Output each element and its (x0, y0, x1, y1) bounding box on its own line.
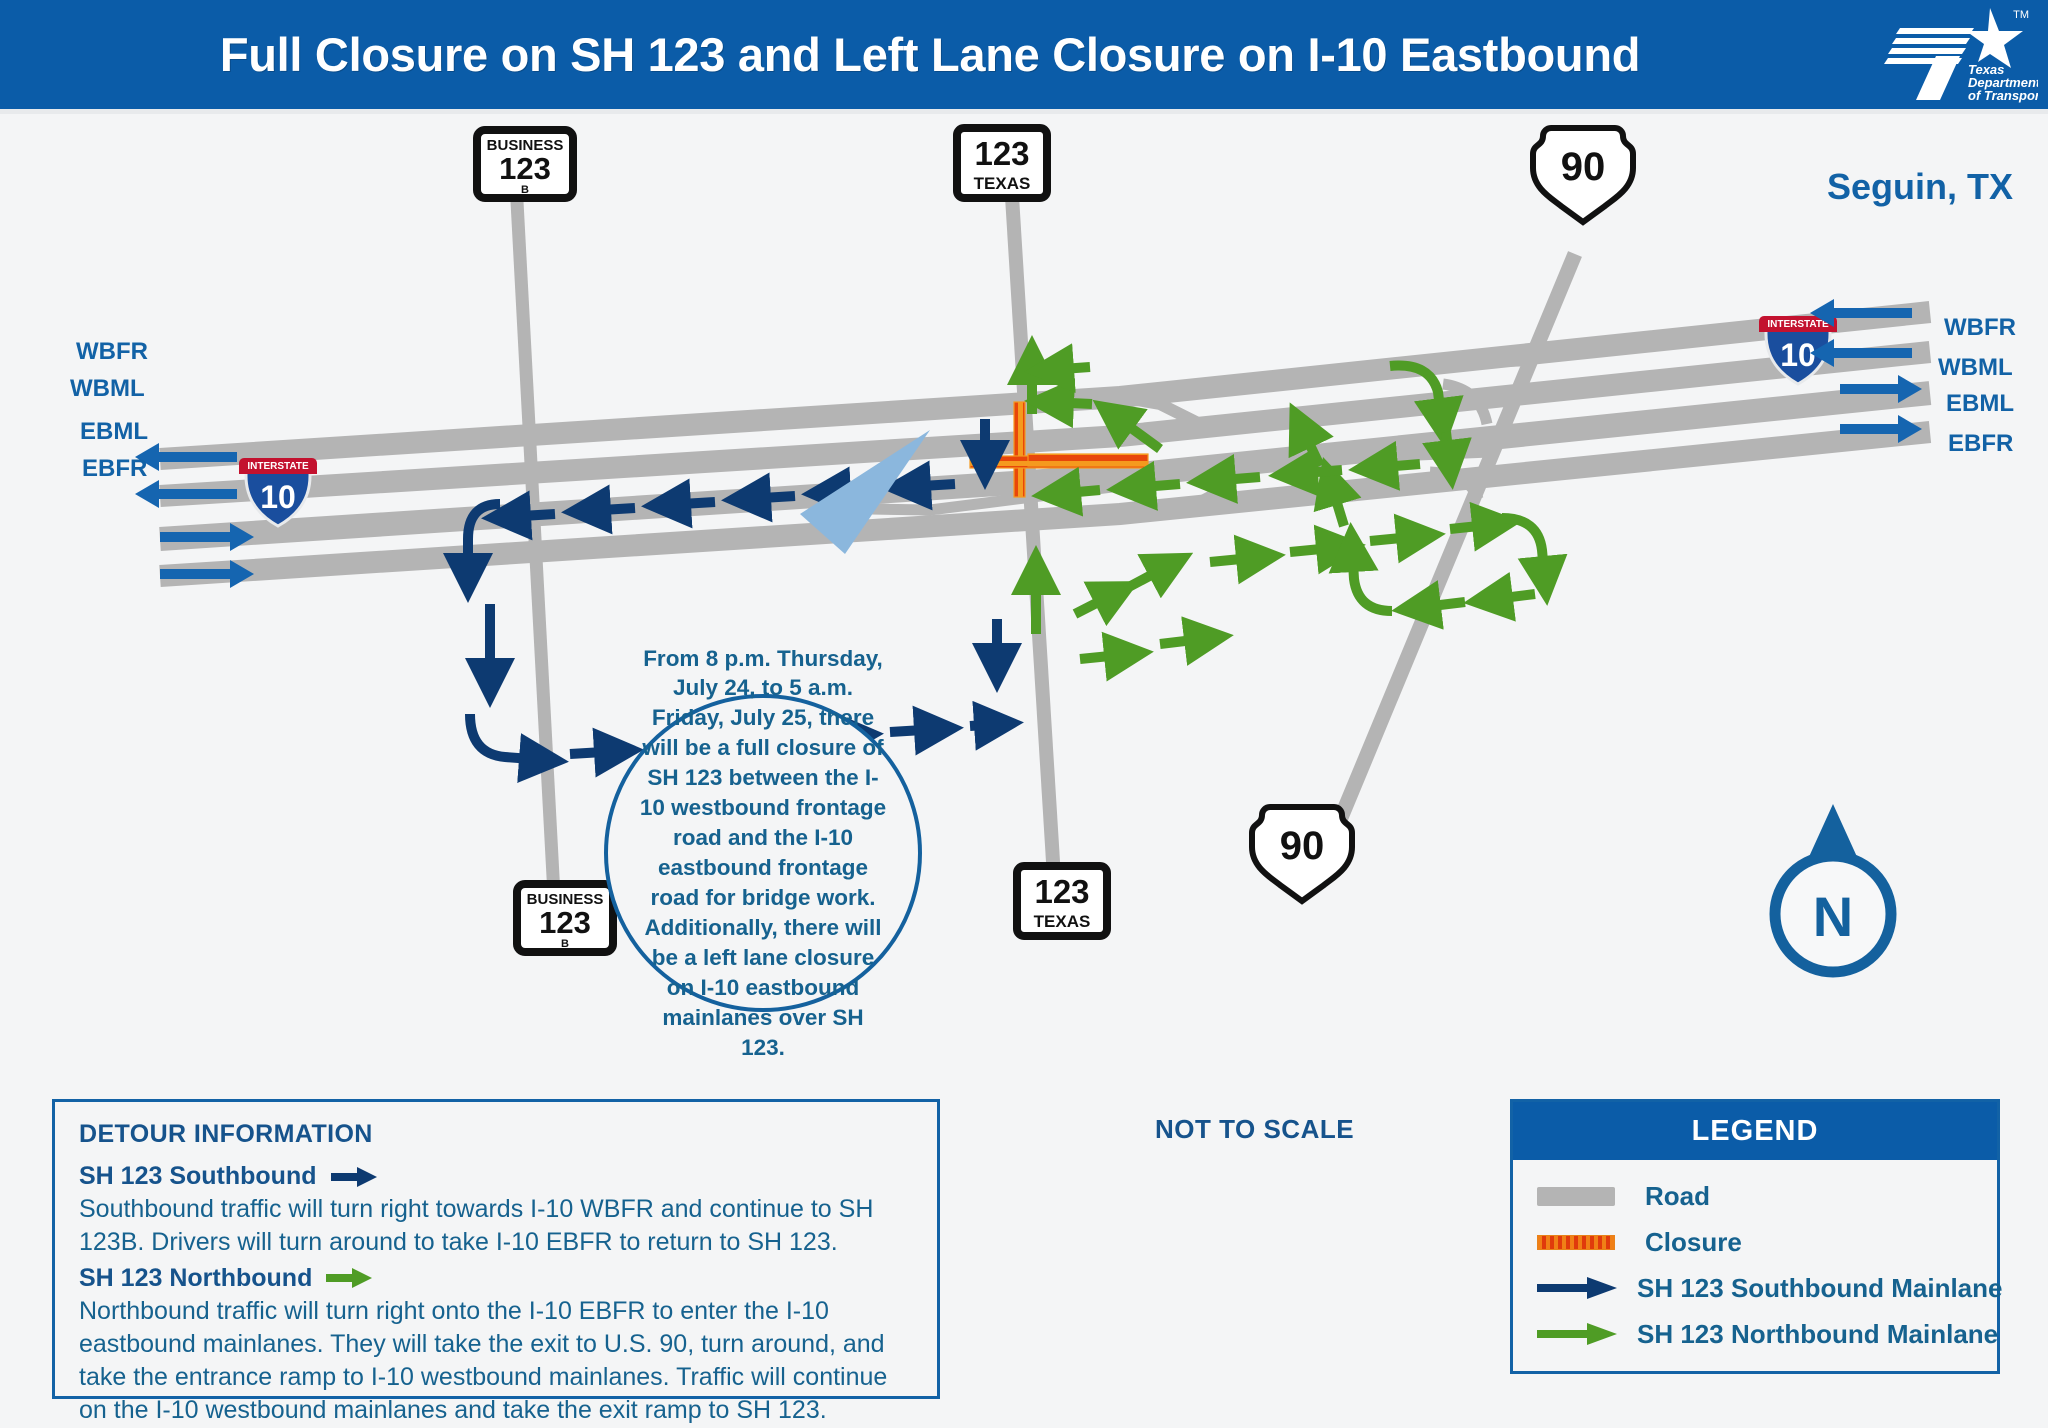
svg-text:TEXAS: TEXAS (974, 174, 1031, 193)
ramp-90-mid (1322, 452, 1490, 459)
svg-text:B: B (521, 184, 529, 196)
lane-label-right-wbfr: WBFR (1944, 314, 2016, 342)
road-business-123 (515, 164, 555, 914)
ramp-90-top (1360, 361, 1520, 367)
closure-sh123-vertical (1014, 402, 1025, 497)
southbound-arrow-legend-icon (1537, 1277, 1617, 1299)
detour-northbound-heading: SH 123 Northbound (79, 1264, 913, 1293)
svg-text:10: 10 (260, 479, 296, 515)
lane-label-left-wbml: WBML (70, 375, 145, 403)
north-arrow: N (1775, 804, 1891, 972)
southbound-arrow-icon (331, 1167, 377, 1187)
shield-sh-123-bottom: 123 TEXAS (1017, 866, 1107, 936)
shield-i-10-left: INTERSTATE 10 (239, 458, 317, 526)
shield-business-123-bottom: BUSINESS 123 B (517, 884, 613, 952)
closure-callout-text: From 8 p.m. Thursday, July 24, to 5 a.m.… (638, 644, 888, 1063)
legend-label-closure: Closure (1645, 1227, 1742, 1258)
detour-southbound-text: Southbound traffic will turn right towar… (79, 1193, 913, 1260)
legend-label-northbound: SH 123 Northbound Mainlane (1637, 1319, 1998, 1350)
detour-northbound-label: SH 123 Northbound (79, 1264, 312, 1293)
legend-label-road: Road (1645, 1181, 1710, 1212)
svg-text:123: 123 (499, 151, 551, 186)
detour-title: DETOUR INFORMATION (79, 1120, 913, 1149)
lane-label-left-wbfr: WBFR (76, 338, 148, 366)
not-to-scale-label: NOT TO SCALE (1155, 1114, 1354, 1145)
txdot-logo: TM Texas Department of Transportation (1878, 4, 2038, 104)
road-network (160, 164, 1930, 914)
legend-items: Road Closure SH 123 Southbound Mainlane … (1513, 1160, 1997, 1357)
page-header: Full Closure on SH 123 and Left Lane Clo… (0, 0, 2048, 109)
detour-northbound-text: Northbound traffic will turn right onto … (79, 1295, 913, 1428)
legend-label-southbound: SH 123 Southbound Mainlane (1637, 1273, 2002, 1304)
lane-label-left-ebml: EBML (80, 418, 148, 446)
legend-box: LEGEND Road Closure SH 123 Southbound Ma… (1510, 1099, 2000, 1374)
svg-text:INTERSTATE: INTERSTATE (1767, 319, 1829, 330)
detour-southbound-heading: SH 123 Southbound (79, 1162, 913, 1191)
lane-label-left-ebfr: EBFR (82, 455, 147, 483)
svg-text:90: 90 (1561, 145, 1606, 189)
shield-us-90-top: 90 (1533, 128, 1633, 222)
map-canvas: BUSINESS 123 B BUSINESS 123 B 123 TEXAS … (0, 114, 2048, 1325)
svg-text:10: 10 (1780, 337, 1816, 373)
northbound-arrow-icon (326, 1268, 372, 1288)
svg-text:123: 123 (539, 905, 591, 940)
shield-sh-123-top: 123 TEXAS (957, 128, 1047, 198)
svg-text:123: 123 (1034, 873, 1089, 910)
city-label: Seguin, TX (1827, 166, 2013, 208)
svg-text:90: 90 (1280, 824, 1325, 868)
lane-label-right-ebml: EBML (1946, 390, 2014, 418)
closure-ebml-right (1028, 454, 1148, 466)
lane-label-right-wbml: WBML (1938, 354, 2013, 382)
closure-callout: From 8 p.m. Thursday, July 24, to 5 a.m.… (604, 694, 922, 1012)
page-title: Full Closure on SH 123 and Left Lane Clo… (0, 0, 1860, 109)
detour-southbound-label: SH 123 Southbound (79, 1162, 317, 1191)
shield-business-123-top: BUSINESS 123 B (477, 130, 573, 198)
trademark-text: TM (2013, 9, 2029, 21)
legend-title: LEGEND (1513, 1102, 1997, 1160)
legend-row-closure: Closure (1537, 1219, 1997, 1265)
legend-row-southbound: SH 123 Southbound Mainlane (1537, 1265, 1997, 1311)
shield-us-90-bottom: 90 (1252, 807, 1352, 901)
closure-swatch-icon (1537, 1235, 1625, 1250)
svg-text:123: 123 (974, 135, 1029, 172)
ramp-wb-exit (1120, 397, 1200, 424)
logo-line-3: of Transportation (1968, 88, 2038, 103)
svg-text:B: B (561, 938, 569, 950)
detour-information-box: DETOUR INFORMATION SH 123 Southbound Sou… (52, 1099, 940, 1399)
legend-row-road: Road (1537, 1173, 1997, 1219)
legend-row-northbound: SH 123 Northbound Mainlane (1537, 1311, 1997, 1357)
svg-text:TEXAS: TEXAS (1034, 912, 1091, 931)
road-swatch-icon (1537, 1187, 1625, 1206)
north-arrow-label: N (1813, 885, 1853, 948)
svg-text:INTERSTATE: INTERSTATE (247, 461, 309, 472)
northbound-arrow-legend-icon (1537, 1323, 1617, 1345)
lane-label-right-ebfr: EBFR (1948, 430, 2013, 458)
